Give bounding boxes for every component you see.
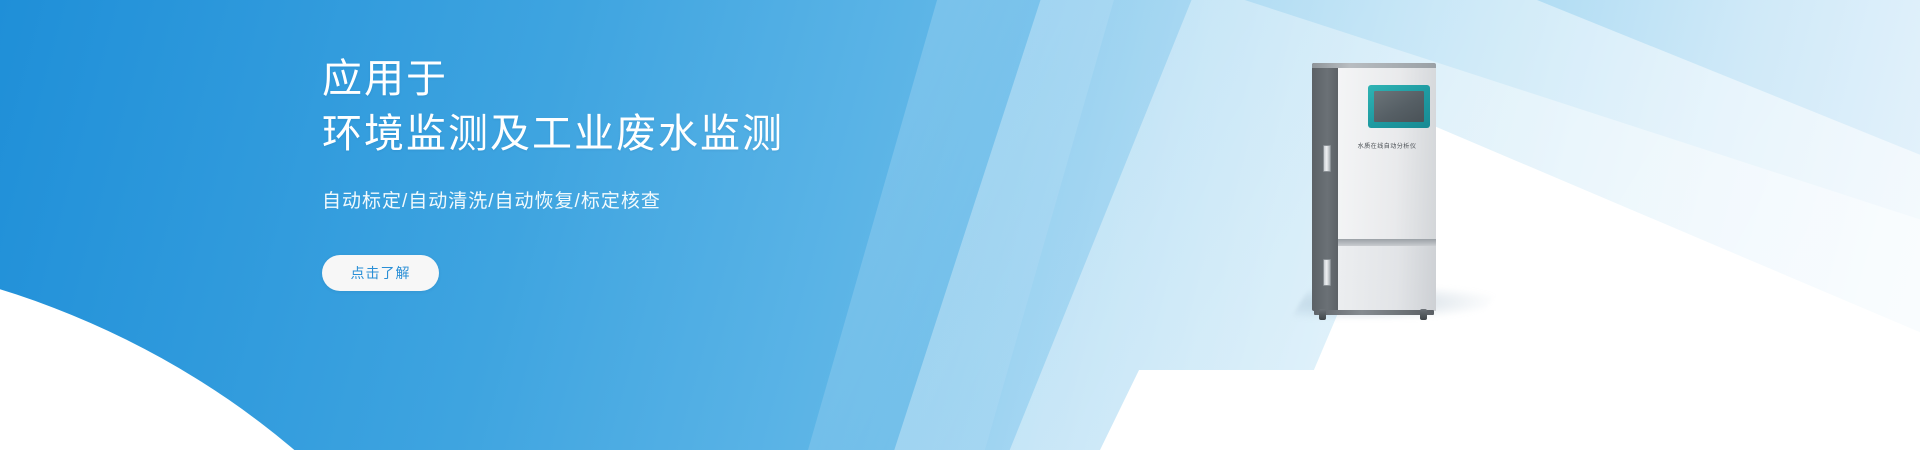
headline-line-2: 环境监测及工业废水监测 — [322, 107, 982, 162]
device-upper-door-handle — [1323, 145, 1331, 172]
device-label-text: 水质在线自动分析仪 — [1337, 141, 1437, 150]
device-top-cap — [1312, 63, 1436, 68]
headline-line-1: 应用于 — [322, 52, 982, 107]
device-panel-divider — [1338, 239, 1436, 246]
device-base-bar — [1314, 310, 1434, 315]
banner-headline: 应用于 环境监测及工业废水监测 — [322, 52, 982, 162]
background-bottom-strip — [1100, 370, 1920, 450]
device-display-screen — [1374, 91, 1424, 122]
device-lower-door-handle — [1323, 259, 1331, 286]
device-screen-bezel — [1368, 85, 1430, 128]
banner-subheadline: 自动标定/自动清洗/自动恢复/标定核查 — [322, 186, 982, 213]
water-quality-analyzer-icon: 水质在线自动分析仪 — [1312, 63, 1436, 311]
cta-learn-more-button[interactable]: 点击了解 — [322, 255, 439, 291]
device-lower-cabinet — [1338, 246, 1436, 311]
device-caster-left — [1319, 309, 1326, 320]
device-caster-right — [1420, 309, 1427, 320]
hero-banner: 应用于 环境监测及工业废水监测 自动标定/自动清洗/自动恢复/标定核查 点击了解… — [0, 0, 1920, 450]
banner-copy: 应用于 环境监测及工业废水监测 自动标定/自动清洗/自动恢复/标定核查 点击了解 — [322, 52, 982, 291]
